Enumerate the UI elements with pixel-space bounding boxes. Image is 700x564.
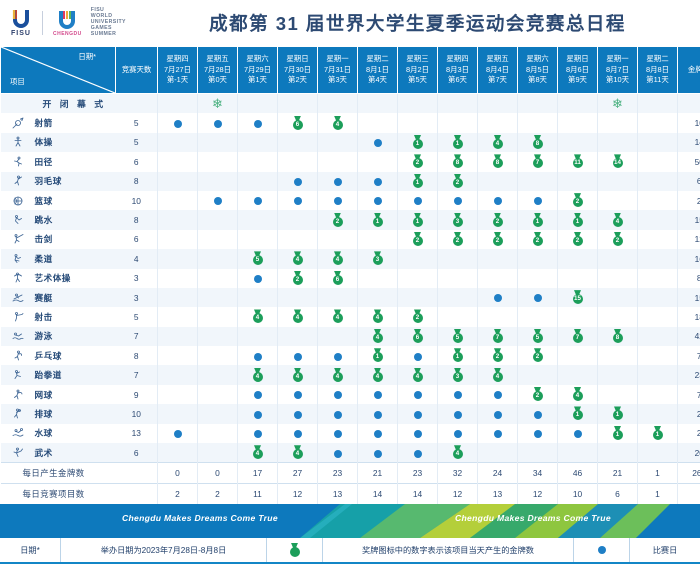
schedule-cell <box>198 424 238 443</box>
schedule-cell <box>478 307 518 326</box>
summary-label-cell: 每日产生金牌数 <box>1 463 116 484</box>
schedule-cell <box>278 385 318 404</box>
summary-value-cell: 12 <box>438 484 478 505</box>
schedule-cell: 5 <box>438 327 478 346</box>
event-name: 排球 <box>35 408 53 420</box>
weekday-label: 星期六 <box>518 54 557 65</box>
medal-icon: 1 <box>371 213 384 228</box>
gold-count-cell: 16 <box>678 249 700 268</box>
medal-icon: 4 <box>491 368 504 383</box>
summary-value-cell: 12 <box>278 484 318 505</box>
schedule-cell <box>598 365 638 384</box>
summary-label: 每日产生金牌数 <box>1 467 85 479</box>
competition-day-dot <box>294 391 302 399</box>
chengdu-logo: CHENGDU <box>53 10 82 37</box>
rhythmic-icon <box>1 272 35 284</box>
medal-icon: 7 <box>491 329 504 344</box>
legend-date-text: 举办日期为2023年7月28日-8月8日 <box>61 544 266 556</box>
schedule-cell: 4 <box>318 365 358 384</box>
competition-day-dot <box>334 178 342 186</box>
schedule-cell: 6 <box>398 327 438 346</box>
medal-icon: 1 <box>611 406 624 421</box>
table-row: 水球13112 <box>1 424 700 443</box>
medal-icon: 8 <box>491 154 504 169</box>
schedule-cell <box>398 443 438 463</box>
schedule-cell <box>278 424 318 443</box>
medal-icon: 1 <box>451 135 464 150</box>
schedule-cell <box>318 404 358 423</box>
medal-icon: 7 <box>531 154 544 169</box>
schedule-cell: 1 <box>398 133 438 152</box>
schedule-cell <box>198 288 238 307</box>
schedule-cell <box>318 327 358 346</box>
schedule-cell <box>598 288 638 307</box>
schedule-cell <box>558 269 598 288</box>
schedule-cell <box>478 172 518 191</box>
medal-icon: 2 <box>331 213 344 228</box>
event-cell: 排球 <box>1 404 116 423</box>
event-name: 网球 <box>35 389 53 401</box>
schedule-cell: 1 <box>438 133 478 152</box>
gold-count-cell: 12 <box>678 230 700 249</box>
schedule-cell <box>598 113 638 132</box>
schedule-cell <box>518 269 558 288</box>
medal-icon: 2 <box>411 154 424 169</box>
banner-slogan-left: Chengdu Makes Dreams Come True <box>122 513 278 523</box>
summary-value-cell: 6 <box>598 484 638 505</box>
competition-day-dot <box>334 430 342 438</box>
competition-days-cell: 8 <box>116 172 158 191</box>
gold-count-cell: 20 <box>678 443 700 463</box>
competition-day-dot <box>174 120 182 128</box>
schedule-cell <box>158 443 198 463</box>
schedule-cell: 2 <box>558 230 598 249</box>
schedule-cell <box>158 424 198 443</box>
daynum-label: 第0天 <box>198 75 237 86</box>
schedule-cell <box>358 172 398 191</box>
schedule-cell: 2 <box>478 346 518 365</box>
competition-day-dot <box>254 197 262 205</box>
medal-icon: 4 <box>291 309 304 324</box>
schedule-cell <box>478 191 518 210</box>
medal-icon: 1 <box>451 348 464 363</box>
schedule-cell <box>398 385 438 404</box>
schedule-cell <box>318 424 358 443</box>
schedule-cell <box>278 327 318 346</box>
fisu-subtitle-lines: FISU WORLD UNIVERSITY GAMES SUMMER <box>91 8 126 37</box>
schedule-cell <box>478 404 518 423</box>
daynum-label: 第2天 <box>278 75 317 86</box>
event-cell: 柔道 <box>1 249 116 268</box>
schedule-cell <box>638 249 678 268</box>
date-label: 7月28日 <box>198 65 237 76</box>
schedule-cell <box>198 443 238 463</box>
table-row: 跳水82113211415 <box>1 210 700 229</box>
schedule-cell <box>638 133 678 152</box>
event-name: 羽毛球 <box>35 175 62 187</box>
schedule-cell <box>558 424 598 443</box>
schedule-cell: 4 <box>598 210 638 229</box>
schedule-cell <box>198 346 238 365</box>
schedule-cell <box>598 443 638 463</box>
date-header-5: 星期一7月31日第3天 <box>318 47 358 94</box>
shooting-icon <box>1 311 35 323</box>
summary-value-cell: 27 <box>278 463 318 484</box>
schedule-cell: 2 <box>318 210 358 229</box>
medal-icon: 4 <box>411 368 424 383</box>
schedule-cell <box>238 230 278 249</box>
summary-value-cell: 0 <box>198 463 238 484</box>
schedule-cell <box>558 94 598 114</box>
schedule-cell <box>638 443 678 463</box>
medal-icon: 4 <box>371 329 384 344</box>
schedule-cell: 4 <box>478 365 518 384</box>
table-row: 田径62887111450 <box>1 152 700 171</box>
medal-icon: 4 <box>331 368 344 383</box>
schedule-cell <box>158 249 198 268</box>
event-cell: 田径 <box>1 152 116 171</box>
gold-count-cell: 50 <box>678 152 700 171</box>
schedule-cell <box>398 249 438 268</box>
event-cell: 体操 <box>1 133 116 152</box>
schedule-cell: 4 <box>278 249 318 268</box>
schedule-cell <box>358 443 398 463</box>
competition-day-dot <box>254 353 262 361</box>
legend-date-label: 日期* <box>0 544 60 556</box>
summary-spacer <box>116 484 158 505</box>
page-header: FISU CHENGDU FISU WORLD UNIVERSITY <box>0 0 700 46</box>
schedule-cell <box>598 249 638 268</box>
schedule-cell: 1 <box>358 346 398 365</box>
competition-day-dot <box>494 411 502 419</box>
schedule-cell <box>198 385 238 404</box>
medal-icon: 8 <box>611 329 624 344</box>
medal-icon: 1 <box>571 213 584 228</box>
schedule-cell <box>238 191 278 210</box>
competition-days-cell: 5 <box>116 113 158 132</box>
summary-value-cell: 1 <box>638 463 678 484</box>
schedule-cell <box>518 404 558 423</box>
competition-day-dot <box>534 411 542 419</box>
competition-day-dot <box>254 430 262 438</box>
legend-dot-text: 比赛日 <box>630 544 700 556</box>
date-header-12: 星期一8月7日第10天 <box>598 47 638 94</box>
schedule-cell <box>318 346 358 365</box>
weekday-label: 星期一 <box>318 54 357 65</box>
schedule-cell <box>158 404 198 423</box>
schedule-cell: 2 <box>438 172 478 191</box>
schedule-cell <box>438 269 478 288</box>
schedule-cell <box>238 210 278 229</box>
date-label: 7月30日 <box>278 65 317 76</box>
schedule-cell <box>238 133 278 152</box>
summary-value-cell: 23 <box>398 463 438 484</box>
fisu-wordmark: FISU <box>11 30 31 37</box>
date-label: 8月4日 <box>478 65 517 76</box>
competition-day-dot <box>254 120 262 128</box>
medal-icon: 3 <box>371 251 384 266</box>
weekday-label: 星期日 <box>558 54 597 65</box>
summary-value-cell: 17 <box>238 463 278 484</box>
page-title: 成都第 31 届世界大学生夏季运动会竞赛总日程 <box>185 10 690 36</box>
competition-day-dot <box>454 430 462 438</box>
competition-day-dot <box>334 450 342 458</box>
schedule-cell: 2 <box>478 210 518 229</box>
medal-icon: 2 <box>411 309 424 324</box>
competition-day-dot <box>414 430 422 438</box>
summary-value-cell: 10 <box>558 484 598 505</box>
competition-day-dot <box>294 197 302 205</box>
schedule-cell <box>158 365 198 384</box>
schedule-cell <box>358 424 398 443</box>
competition-day-dot <box>374 197 382 205</box>
schedule-cell <box>318 288 358 307</box>
schedule-cell: 1 <box>598 404 638 423</box>
daynum-label: 第11天 <box>638 75 677 86</box>
competition-days-cell: 8 <box>116 346 158 365</box>
competition-day-dot <box>494 430 502 438</box>
daynum-label: 第7天 <box>478 75 517 86</box>
schedule-cell: 2 <box>518 230 558 249</box>
competition-day-dot <box>374 178 382 186</box>
weekday-label: 星期三 <box>398 54 437 65</box>
gold-count-cell: 18 <box>678 307 700 326</box>
medal-icon: 4 <box>611 213 624 228</box>
schedule-cell <box>198 404 238 423</box>
schedule-cell: 3 <box>438 210 478 229</box>
schedule-cell <box>278 133 318 152</box>
event-name: 射箭 <box>35 117 53 129</box>
schedule-cell <box>238 385 278 404</box>
competition-day-dot <box>494 391 502 399</box>
competition-day-dot <box>414 353 422 361</box>
fisu-line-5: SUMMER <box>91 32 126 38</box>
event-cell: 篮球 <box>1 191 116 210</box>
table-row: 体操5114814 <box>1 133 700 152</box>
competition-day-dot <box>254 275 262 283</box>
days-header: 竞赛天数 <box>116 47 158 94</box>
schedule-cell <box>238 404 278 423</box>
schedule-cell <box>478 113 518 132</box>
daynum-label: 第4天 <box>358 75 397 86</box>
gold-count-cell: 2 <box>678 424 700 443</box>
table-row: 击剑622222212 <box>1 230 700 249</box>
date-header-10: 星期六8月5日第8天 <box>518 47 558 94</box>
medal-icon: 4 <box>491 135 504 150</box>
schedule-cell <box>358 113 398 132</box>
schedule-cell <box>478 249 518 268</box>
summary-row: 每日产生金牌数00172723212332243446211269 <box>1 463 700 484</box>
medal-icon: 4 <box>371 309 384 324</box>
medal-icon: 8 <box>531 135 544 150</box>
medal-icon: 15 <box>571 290 584 305</box>
competition-days-cell: 6 <box>116 443 158 463</box>
event-cell: 武术 <box>1 443 116 463</box>
schedule-cell <box>158 385 198 404</box>
competition-day-dot <box>374 139 382 147</box>
medal-icon: 7 <box>571 329 584 344</box>
event-name: 水球 <box>35 427 53 439</box>
schedule-cell <box>638 210 678 229</box>
medal-icon: 4 <box>571 387 584 402</box>
weekday-label: 星期一 <box>598 54 637 65</box>
schedule-cell <box>398 424 438 443</box>
schedule-cell: 2 <box>278 269 318 288</box>
schedule-cell: 4 <box>278 307 318 326</box>
medal-icon: 2 <box>531 232 544 247</box>
schedule-page: FISU CHENGDU FISU WORLD UNIVERSITY <box>0 0 700 554</box>
schedule-cell <box>238 327 278 346</box>
medal-icon: 2 <box>611 232 624 247</box>
schedule-cell <box>638 230 678 249</box>
gold-count-cell: 23 <box>678 365 700 384</box>
schedule-cell <box>158 94 198 114</box>
schedule-cell <box>158 210 198 229</box>
schedule-cell <box>318 191 358 210</box>
competition-days-cell: 5 <box>116 307 158 326</box>
medal-icon: 4 <box>331 251 344 266</box>
medal-icon: 1 <box>371 348 384 363</box>
schedule-cell <box>598 269 638 288</box>
gold-count-cell: 10 <box>678 113 700 132</box>
schedule-cell <box>438 288 478 307</box>
daynum-label: 第8天 <box>518 75 557 86</box>
medal-icon: 4 <box>331 309 344 324</box>
schedule-cell <box>398 191 438 210</box>
schedule-cell: 6 <box>318 269 358 288</box>
date-label: 8月7日 <box>598 65 637 76</box>
competition-day-dot <box>534 294 542 302</box>
event-name: 武术 <box>35 447 53 459</box>
corner-header: 日期* 项目 <box>1 47 116 94</box>
medal-icon: 2 <box>491 348 504 363</box>
schedule-cell: 2 <box>518 346 558 365</box>
schedule-cell <box>558 443 598 463</box>
weekday-label: 星期五 <box>198 54 237 65</box>
schedule-cell <box>398 113 438 132</box>
schedule-cell <box>158 191 198 210</box>
schedule-cell: 4 <box>238 443 278 463</box>
schedule-cell <box>478 424 518 443</box>
schedule-table-wrap: 日期* 项目 竞赛天数 星期四7月27日第-1天星期五7月28日第0天星期六7月… <box>0 46 700 504</box>
summary-total-cell <box>678 484 700 505</box>
schedule-cell: 2 <box>478 230 518 249</box>
competition-days-cell: 8 <box>116 210 158 229</box>
schedule-cell <box>438 113 478 132</box>
event-name: 开 闭 幕 式 <box>35 97 107 110</box>
medal-icon: 4 <box>451 445 464 460</box>
daynum-label: 第1天 <box>238 75 277 86</box>
schedule-cell: 8 <box>478 152 518 171</box>
medal-icon: 6 <box>291 116 304 131</box>
medal-icon <box>288 543 301 558</box>
schedule-cell <box>238 152 278 171</box>
date-label: 7月29日 <box>238 65 277 76</box>
schedule-cell: 8 <box>598 327 638 346</box>
schedule-cell <box>198 172 238 191</box>
schedule-cell <box>318 443 358 463</box>
schedule-cell <box>598 133 638 152</box>
schedule-cell: 2 <box>398 230 438 249</box>
summary-value-cell: 2 <box>198 484 238 505</box>
schedule-cell: 4 <box>358 365 398 384</box>
schedule-cell: 2 <box>398 307 438 326</box>
medal-icon: 3 <box>451 213 464 228</box>
medal-icon: 4 <box>291 251 304 266</box>
waterpolo-icon <box>1 427 35 439</box>
schedule-cell <box>158 346 198 365</box>
date-label: 8月8日 <box>638 65 677 76</box>
competition-day-dot <box>334 411 342 419</box>
event-cell: 赛艇 <box>1 288 116 307</box>
date-label: 8月1日 <box>358 65 397 76</box>
schedule-cell: 4 <box>318 249 358 268</box>
competition-day-dot <box>294 353 302 361</box>
archery-icon <box>1 117 35 129</box>
schedule-cell: 1 <box>598 424 638 443</box>
competition-days-cell: 9 <box>116 385 158 404</box>
schedule-cell <box>278 210 318 229</box>
competition-day-dot <box>414 411 422 419</box>
schedule-cell <box>318 152 358 171</box>
schedule-cell <box>158 113 198 132</box>
schedule-cell <box>238 113 278 132</box>
schedule-cell <box>358 230 398 249</box>
competition-days-cell: 3 <box>116 288 158 307</box>
medal-icon: 2 <box>491 232 504 247</box>
event-name: 柔道 <box>35 253 53 265</box>
firework-icon: ❄ <box>612 96 623 111</box>
schedule-cell <box>438 385 478 404</box>
schedule-cell <box>638 94 678 114</box>
chengdu-u-icon <box>56 10 78 30</box>
table-row: 篮球1022 <box>1 191 700 210</box>
competition-day-dot <box>454 197 462 205</box>
schedule-cell <box>358 269 398 288</box>
legend-medal-icon <box>267 543 322 558</box>
schedule-cell <box>318 172 358 191</box>
competition-day-dot <box>454 411 462 419</box>
schedule-cell <box>238 269 278 288</box>
schedule-cell <box>198 365 238 384</box>
table-row: 网球9247 <box>1 385 700 404</box>
schedule-cell <box>438 191 478 210</box>
medal-icon: 2 <box>531 387 544 402</box>
schedule-cell: 1 <box>438 346 478 365</box>
date-header-1: 星期四7月27日第-1天 <box>158 47 198 94</box>
schedule-cell <box>558 346 598 365</box>
summary-label: 每日竞赛项目数 <box>1 488 85 500</box>
schedule-cell: 15 <box>558 288 598 307</box>
event-cell: 水球 <box>1 424 116 443</box>
athletics-icon <box>1 156 35 168</box>
schedule-cell <box>158 327 198 346</box>
schedule-cell <box>518 365 558 384</box>
gold-count-cell: 14 <box>678 133 700 152</box>
event-name: 跆拳道 <box>35 369 62 381</box>
schedule-cell <box>358 385 398 404</box>
summary-value-cell: 13 <box>318 484 358 505</box>
event-cell: 射击 <box>1 307 116 326</box>
schedule-cell: 1 <box>518 210 558 229</box>
summary-value-cell: 1 <box>638 484 678 505</box>
medal-icon: 2 <box>451 232 464 247</box>
medal-icon: 2 <box>571 193 584 208</box>
medal-icon: 8 <box>451 154 464 169</box>
schedule-cell: 3 <box>358 249 398 268</box>
event-name: 田径 <box>35 156 53 168</box>
schedule-cell <box>158 133 198 152</box>
